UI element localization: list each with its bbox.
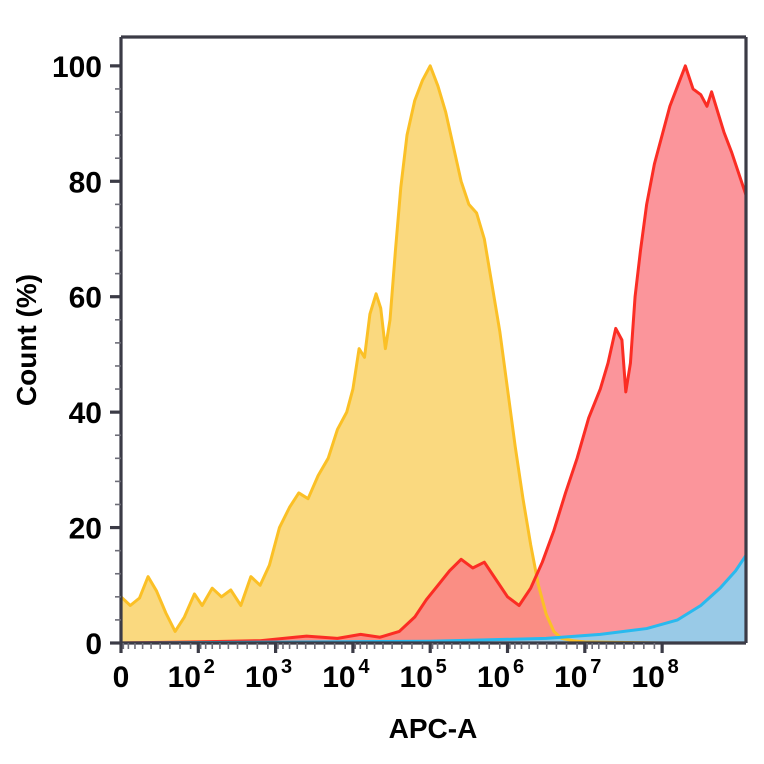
- x-tick-label: 10: [477, 661, 510, 694]
- x-tick-label-exponent: 4: [358, 656, 370, 678]
- x-tick-label: 10: [245, 661, 278, 694]
- x-tick-label-exponent: 6: [513, 656, 524, 678]
- x-tick-label-exponent: 3: [281, 656, 292, 678]
- x-tick-label: 10: [400, 661, 433, 694]
- y-axis-title: Count (%): [11, 274, 42, 406]
- y-axis-tick-labels: 020406080100: [52, 51, 102, 661]
- x-tick-label-exponent: 8: [668, 656, 679, 678]
- x-tick-label: 0: [113, 661, 130, 694]
- flow-cytometry-figure: 0102103104105106107108 020406080100 APC-…: [0, 0, 764, 764]
- y-axis-ticks: [110, 66, 121, 643]
- y-tick-label: 20: [69, 513, 102, 546]
- x-tick-label-exponent: 2: [204, 656, 215, 678]
- histogram-plot: 0102103104105106107108 020406080100 APC-…: [0, 0, 764, 764]
- y-tick-label: 100: [52, 51, 102, 84]
- y-tick-label: 0: [85, 628, 102, 661]
- x-tick-label: 10: [168, 661, 201, 694]
- x-axis-title: APC-A: [389, 713, 478, 744]
- x-tick-label: 10: [322, 661, 355, 694]
- y-tick-label: 60: [69, 282, 102, 315]
- y-tick-label: 40: [69, 397, 102, 430]
- x-tick-label: 10: [554, 661, 587, 694]
- y-tick-label: 80: [69, 166, 102, 199]
- x-tick-label-exponent: 7: [590, 656, 601, 678]
- x-axis-tick-labels: 0102103104105106107108: [113, 656, 679, 694]
- x-tick-label-exponent: 5: [436, 656, 447, 678]
- x-tick-label: 10: [631, 661, 664, 694]
